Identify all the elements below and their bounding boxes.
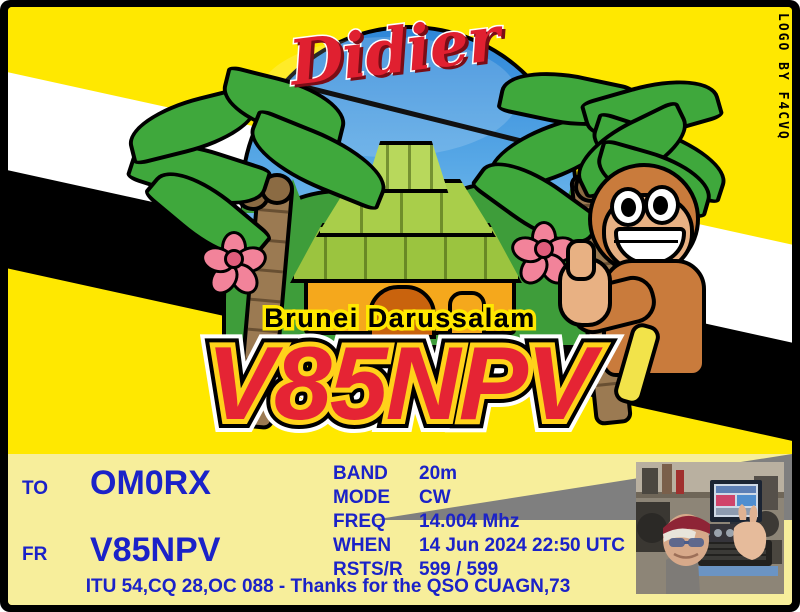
qso-info-panel: TO OM0RX FR V85NPV BAND20m MODECW FREQ14… (8, 454, 792, 605)
qso-value: 20m (419, 462, 625, 486)
qso-key: WHEN (333, 534, 419, 558)
qsl-card: Didier Brunei Darussalam Brunei Darussal… (0, 0, 800, 612)
operator-photo-graphic (636, 462, 784, 594)
hibiscus-flower-left (204, 229, 258, 283)
logo-credit: LOGO BY F4CVQ (766, 13, 790, 163)
hibiscus-flower-right (514, 219, 568, 273)
monkey-eye-left (610, 187, 646, 227)
table-row: BAND20m (333, 462, 625, 486)
fr-callsign: V85NPV (90, 531, 220, 570)
qso-key: MODE (333, 486, 419, 510)
qso-value: CW (419, 486, 625, 510)
qso-value: 14 Jun 2024 22:50 UTC (419, 534, 625, 558)
fr-label: FR (22, 544, 47, 566)
monkey-eye-right (644, 185, 680, 225)
footer-message: ITU 54,CQ 28,OC 088 - Thanks for the QSO… (8, 576, 648, 598)
qso-details-body: BAND20m MODECW FREQ14.004 Mhz WHEN14 Jun… (333, 462, 625, 582)
table-row: WHEN14 Jun 2024 22:50 UTC (333, 534, 625, 558)
qso-key: FREQ (333, 510, 419, 534)
qso-value: 14.004 Mhz (419, 510, 625, 534)
artwork-panel: Didier Brunei Darussalam Brunei Darussal… (8, 7, 792, 454)
operator-photo (636, 462, 784, 594)
to-callsign: OM0RX (90, 464, 211, 503)
table-row: FREQ14.004 Mhz (333, 510, 625, 534)
card-inner: Didier Brunei Darussalam Brunei Darussal… (8, 7, 792, 605)
monkey-thumb-up (566, 239, 596, 281)
qso-key: BAND (333, 462, 419, 486)
table-row: MODECW (333, 486, 625, 510)
to-label: TO (22, 478, 48, 500)
qso-details-table: BAND20m MODECW FREQ14.004 Mhz WHEN14 Jun… (333, 462, 625, 582)
callsign-artwork: V85NPV (8, 332, 792, 436)
